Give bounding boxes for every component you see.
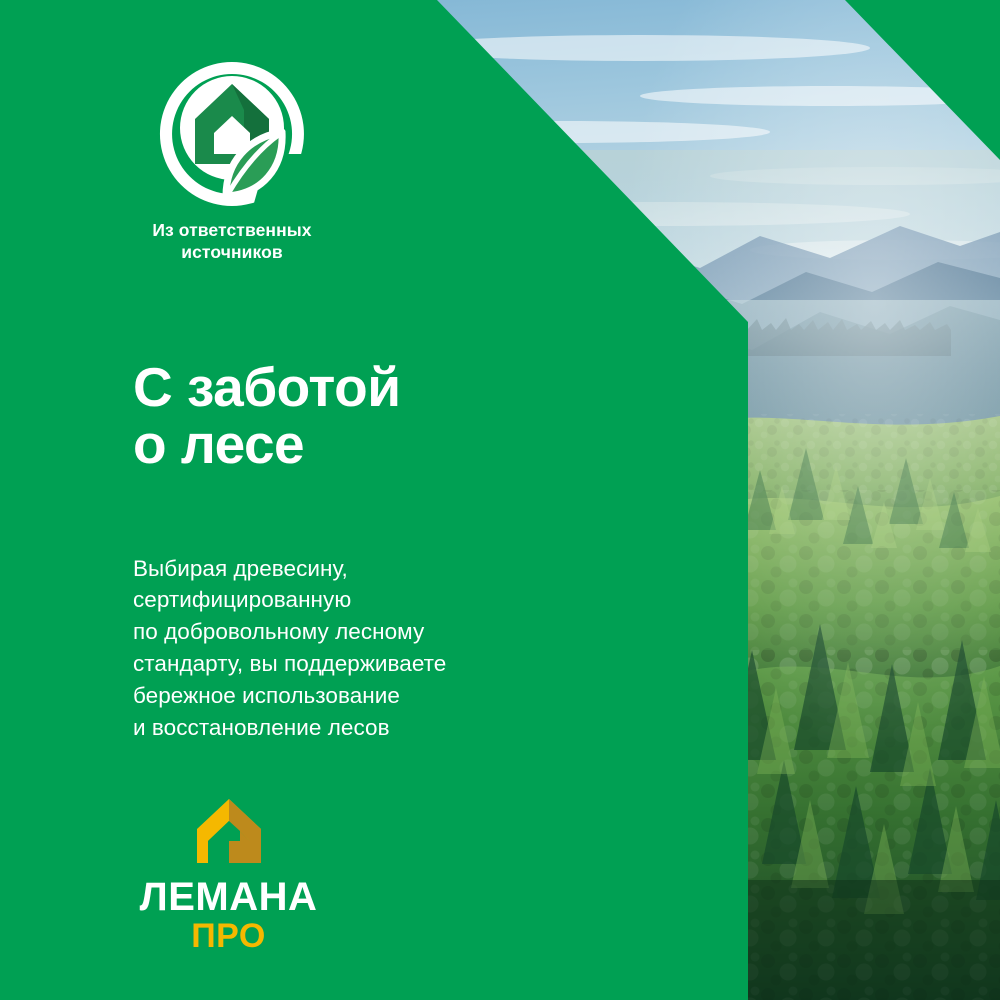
responsible-sources-emblem: Из ответственных источников — [132, 58, 332, 263]
lemana-wordmark-text: ЛЕМАНА — [140, 875, 318, 919]
poster-canvas: Из ответственных источников С заботой о … — [0, 0, 1000, 1000]
content-layer: Из ответственных источников С заботой о … — [0, 0, 1000, 1000]
emblem-caption: Из ответственных источников — [132, 220, 332, 263]
page-title: С заботой о лесе — [133, 359, 401, 473]
lemana-pro-logo: ЛЕМАНА ПРО — [136, 795, 321, 951]
lemana-pro-house-icon — [193, 795, 265, 867]
pro-wordmark-text: ПРО — [191, 917, 266, 951]
body-paragraph: Выбирая древесину, сертифицированную по … — [133, 553, 446, 745]
lemana-pro-wordmark: ЛЕМАНА ПРО — [136, 873, 321, 951]
responsible-sources-house-leaf-circle-icon — [156, 58, 308, 210]
